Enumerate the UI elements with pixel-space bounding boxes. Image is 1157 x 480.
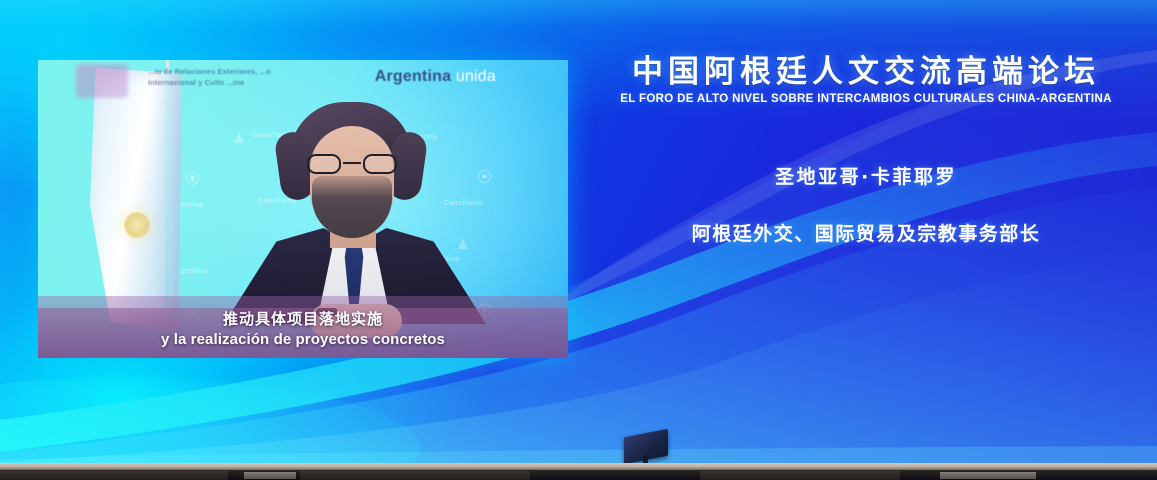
conference-stage-photo: Cancillería Argentina Argentina Cancille…	[0, 0, 1157, 480]
speaker-role: 阿根廷外交、国际贸易及宗教事务部长	[596, 219, 1136, 246]
argentina-unida-logo: Argentina unida	[375, 68, 496, 86]
stage-edge	[0, 463, 1157, 470]
event-title-chinese: 中国阿根廷人文交流高端论坛	[596, 52, 1136, 92]
subtitle-chinese: 推动具体项目落地实施	[223, 308, 383, 329]
speaker-name: 圣地亚哥·卡菲耶罗	[596, 162, 1136, 189]
stage-floor-monitor	[624, 433, 668, 467]
event-title-spanish: EL FORO DE ALTO NIVEL SOBRE INTERCAMBIOS…	[596, 93, 1136, 105]
eyeglasses-icon	[306, 154, 398, 174]
video-feed-panel: Cancillería Argentina Argentina Cancille…	[38, 60, 568, 358]
subtitle-spanish: y la realización de proyectos concretos	[161, 331, 445, 348]
flag-finial	[76, 64, 128, 98]
event-title-block: 中国阿根廷人文交流高端论坛 EL FORO DE ALTO NIVEL SOBR…	[596, 52, 1136, 105]
speaker-credit-block: 圣地亚哥·卡菲耶罗 阿根廷外交、国际贸易及宗教事务部长	[596, 162, 1136, 246]
argentina-unida-bold: Argentina	[375, 68, 451, 85]
video-subtitle-bar: 推动具体项目落地实施 y la realización de proyectos…	[38, 296, 568, 358]
argentina-unida-light: unida	[456, 68, 496, 85]
ministry-wordmark: ...io de Relaciones Exteriores, ...o Int…	[148, 66, 278, 88]
flag-pole	[166, 60, 169, 310]
stage-front-panel	[0, 470, 1157, 480]
flag-sun-emblem	[124, 212, 150, 238]
